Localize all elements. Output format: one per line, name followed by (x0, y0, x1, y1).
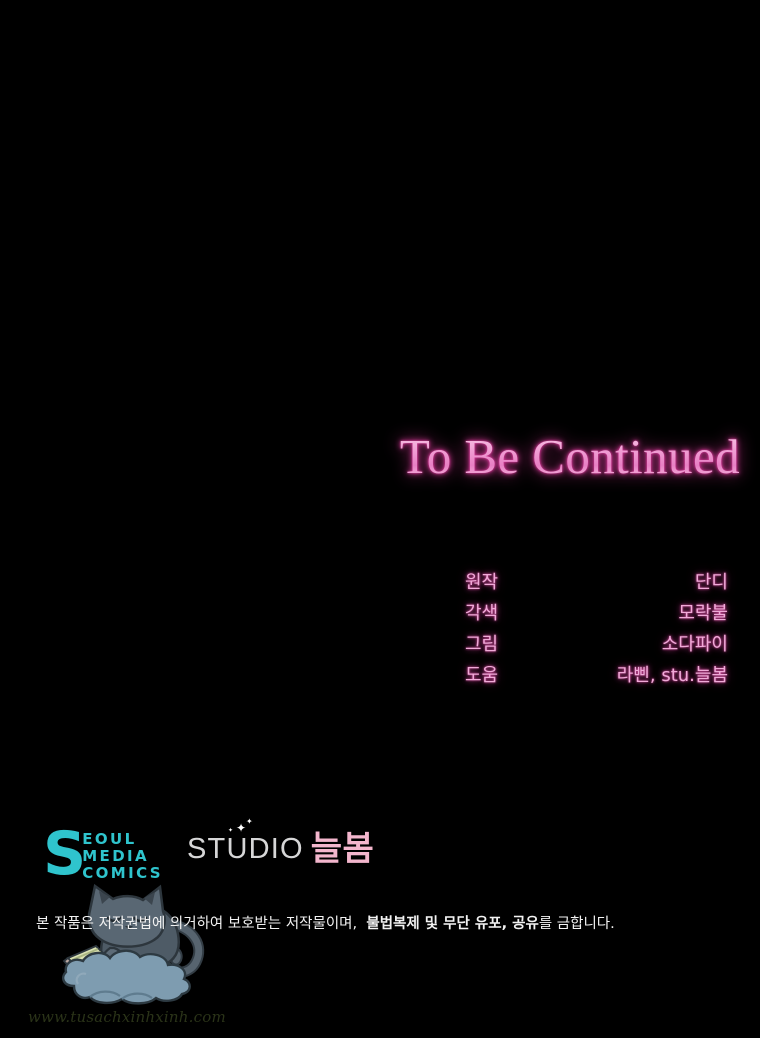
credit-name-value: 단디 (695, 574, 728, 592)
studio-wordmark: STUDIO (187, 835, 304, 864)
credit-role-label: 도움 (465, 667, 498, 685)
credits-list: 원작 단디 각색 모락불 그림 소다파이 도움 라삔, stu.늘봄 (440, 574, 730, 698)
sparkle-icon: ✦ (246, 818, 253, 826)
site-watermark: www.tusachxinhxinh.com (28, 1010, 226, 1025)
to-be-continued-text: To Be Continued (400, 432, 740, 481)
credit-role-label: 그림 (465, 636, 498, 654)
neulbom-wordmark: 늘봄 (311, 832, 375, 866)
copyright-part-3: 를 금합니다. (539, 916, 615, 932)
credit-row: 원작 단디 (440, 574, 730, 605)
credit-name-value: 라삔, stu.늘봄 (617, 667, 728, 685)
credit-name-value: 소다파이 (662, 636, 728, 654)
copyright-part-2-bold: 불법복제 및 무단 유포, 공유 (366, 916, 538, 932)
credit-row: 각색 모락불 (440, 605, 730, 636)
copyright-notice: 본 작품은 저작권법에 의거하여 보호받는 저작물이며, 불법복제 및 무단 유… (36, 915, 736, 933)
to-be-continued-container: To Be Continued (0, 432, 740, 481)
credit-row: 도움 라삔, stu.늘봄 (440, 667, 730, 698)
cat-on-cloud-icon (52, 866, 217, 1016)
credit-row: 그림 소다파이 (440, 636, 730, 667)
copyright-part-1: 본 작품은 저작권법에 의거하여 보호받는 저작물이며, (36, 916, 366, 932)
credit-role-label: 각색 (465, 605, 498, 623)
studio-neulbom-logo: ✦ ✦ ✦ STUDIO 늘봄 (187, 827, 374, 866)
credit-role-label: 원작 (465, 574, 498, 592)
smc-line-media: MEDIA (82, 848, 163, 865)
comic-end-card: To Be Continued 원작 단디 각색 모락불 그림 소다파이 도움 … (0, 0, 760, 1038)
credit-name-value: 모락불 (678, 605, 728, 623)
smc-line-eoul: EOUL (82, 831, 163, 848)
